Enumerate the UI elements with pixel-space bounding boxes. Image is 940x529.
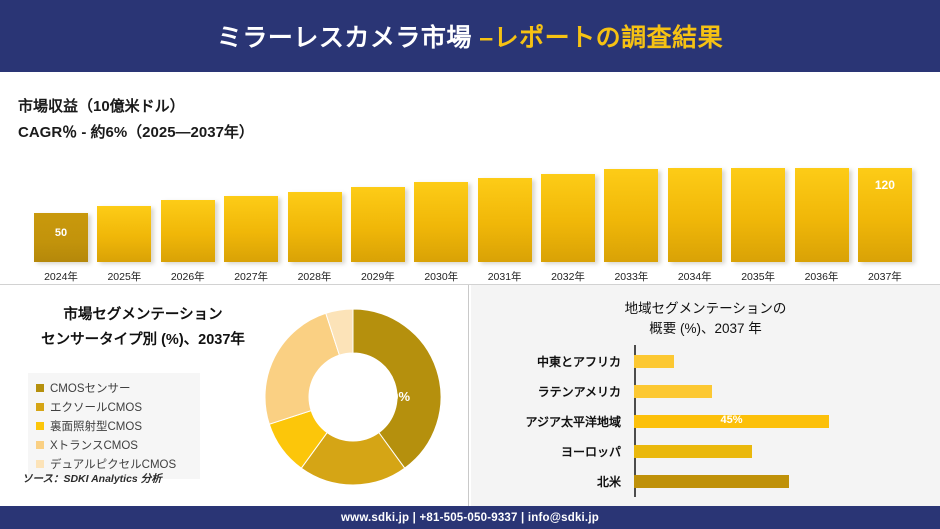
revenue-bar-column: 2025年 (93, 168, 155, 284)
segmentation-title-line-2: センサータイプ別 (%)、2037年 (8, 328, 278, 353)
revenue-bar-column: 2026年 (157, 168, 219, 284)
region-bar-track: 45% (629, 406, 934, 436)
page-title-accent: –レポートの調査結果 (479, 24, 723, 52)
revenue-bar-column: 2029年 (347, 168, 409, 284)
segmentation-legend: CMOSセンサーエクソールCMOS裏面照射型CMOSXトランスCMOSデュアルピ… (28, 373, 200, 479)
revenue-bar-label: 2031年 (488, 269, 522, 284)
revenue-bar (224, 196, 278, 262)
region-bar-label: アジア太平洋地域 (479, 413, 629, 430)
revenue-bar-value: 120 (858, 178, 912, 192)
revenue-bar (351, 187, 405, 262)
legend-item-label: XトランスCMOS (50, 437, 138, 453)
revenue-bar (604, 169, 658, 262)
region-bar-track (629, 466, 934, 496)
infographic-slide: ミラーレスカメラ市場 –レポートの調査結果 市場収益（10億米ドル） CAGR％… (0, 0, 940, 529)
revenue-bar-label: 2035年 (741, 269, 775, 284)
revenue-bar-column: 2034年 (664, 168, 726, 284)
revenue-bar-column: 2036年 (791, 168, 853, 284)
revenue-bar-label: 2025年 (107, 269, 141, 284)
revenue-bar-column: 2028年 (284, 168, 346, 284)
header-band: ミラーレスカメラ市場 –レポートの調査結果 (0, 0, 940, 72)
revenue-bar-column: 2030年 (410, 168, 472, 284)
region-bar (634, 475, 789, 488)
revenue-headline-line-2: CAGR％ - 約6%（2025―2037年） (18, 120, 254, 146)
revenue-bar (795, 168, 849, 262)
donut-slice (265, 313, 339, 424)
legend-color-swatch-icon (36, 460, 44, 468)
revenue-headline-line-1: 市場収益（10億米ドル） (18, 94, 254, 120)
region-bars: 中東とアフリカラテンアメリカアジア太平洋地域45%ヨーロッパ北米 (479, 345, 934, 497)
legend-color-swatch-icon (36, 422, 44, 430)
legend-color-swatch-icon (36, 403, 44, 411)
revenue-bar-label: 2030年 (424, 269, 458, 284)
revenue-bar-label: 2034年 (678, 269, 712, 284)
footer-band: www.sdki.jp | +81-505-050-9337 | info@sd… (0, 506, 940, 529)
legend-item: エクソールCMOS (36, 397, 194, 416)
region-bar-row: アジア太平洋地域45% (479, 406, 934, 436)
region-bar-track (629, 436, 934, 466)
revenue-bar-label: 2037年 (868, 269, 902, 284)
legend-color-swatch-icon (36, 441, 44, 449)
region-bar (634, 355, 674, 368)
donut-slice-label: 40% (384, 389, 410, 404)
revenue-bar-column: 2033年 (600, 168, 662, 284)
legend-item: CMOSセンサー (36, 378, 194, 397)
region-panel: 地域セグメンテーションの 概要 (%)、2037 年 中東とアフリカラテンアメリ… (471, 285, 940, 506)
legend-item-label: エクソールCMOS (50, 399, 142, 415)
revenue-bar (414, 182, 468, 262)
region-bar-label: 中東とアフリカ (479, 353, 629, 370)
region-bar-track (629, 346, 934, 376)
revenue-bar-label: 2033年 (614, 269, 648, 284)
legend-item-label: 裏面照射型CMOS (50, 418, 142, 434)
page-title-primary: ミラーレスカメラ市場 (217, 24, 479, 52)
revenue-bar-column: 2031年 (474, 168, 536, 284)
revenue-bar (478, 178, 532, 262)
revenue-bar-column: 2032年 (537, 168, 599, 284)
revenue-headline: 市場収益（10億米ドル） CAGR％ - 約6%（2025―2037年） (18, 94, 254, 146)
region-bar-label: ヨーロッパ (479, 443, 629, 460)
region-bar-track (629, 376, 934, 406)
revenue-bar: 120 (858, 168, 912, 262)
bottom-section: 市場セグメンテーション センサータイプ別 (%)、2037年 CMOSセンサーエ… (0, 284, 940, 506)
revenue-bar-label: 2024年 (44, 269, 78, 284)
legend-item: XトランスCMOS (36, 435, 194, 454)
legend-item-label: デュアルピクセルCMOS (50, 456, 176, 472)
revenue-bar-value: 50 (34, 227, 88, 239)
revenue-bars: 502024年2025年2026年2027年2028年2029年2030年203… (30, 168, 916, 284)
region-bar-row: ヨーロッパ (479, 436, 934, 466)
revenue-bar (161, 200, 215, 262)
region-bar-label: ラテンアメリカ (479, 383, 629, 400)
revenue-bar-label: 2028年 (298, 269, 332, 284)
region-bar (634, 385, 712, 398)
donut-chart-svg (258, 301, 448, 493)
revenue-bar (541, 174, 595, 262)
region-bar-row: ラテンアメリカ (479, 376, 934, 406)
segmentation-title: 市場セグメンテーション センサータイプ別 (%)、2037年 (8, 303, 278, 353)
source-note: ソース：SDKI Analytics 分析 (22, 471, 162, 486)
region-bar-row: 中東とアフリカ (479, 346, 934, 376)
region-bar-label: 北米 (479, 473, 629, 490)
region-title: 地域セグメンテーションの 概要 (%)、2037 年 (471, 299, 940, 339)
revenue-bar (731, 168, 785, 262)
footer-contact: www.sdki.jp | +81-505-050-9337 | info@sd… (341, 512, 599, 524)
legend-item-label: CMOSセンサー (50, 380, 131, 396)
donut-chart: 40% (258, 301, 448, 493)
page-title: ミラーレスカメラ市場 –レポートの調査結果 (217, 18, 723, 54)
region-bar-value: 45% (634, 414, 829, 426)
region-bar (634, 445, 752, 458)
region-bar: 45% (634, 415, 829, 428)
revenue-chart-panel: 市場収益（10億米ドル） CAGR％ - 約6%（2025―2037年） 502… (0, 72, 940, 284)
revenue-bar (97, 206, 151, 262)
revenue-bar (288, 192, 342, 262)
revenue-bar (668, 168, 722, 262)
revenue-bar-column: 2027年 (220, 168, 282, 284)
revenue-bar: 50 (34, 213, 88, 262)
revenue-bar-label: 2036年 (805, 269, 839, 284)
legend-item: 裏面照射型CMOS (36, 416, 194, 435)
revenue-bar-column: 1202037年 (854, 168, 916, 284)
region-title-line-2: 概要 (%)、2037 年 (471, 319, 940, 339)
revenue-bar-column: 2035年 (727, 168, 789, 284)
region-bar-row: 北米 (479, 466, 934, 496)
region-title-line-1: 地域セグメンテーションの (471, 299, 940, 319)
revenue-bar-label: 2027年 (234, 269, 268, 284)
segmentation-title-line-1: 市場セグメンテーション (8, 303, 278, 328)
revenue-bar-column: 502024年 (30, 168, 92, 284)
segmentation-panel: 市場セグメンテーション センサータイプ別 (%)、2037年 CMOSセンサーエ… (0, 285, 466, 506)
legend-color-swatch-icon (36, 384, 44, 392)
revenue-bar-label: 2026年 (171, 269, 205, 284)
revenue-bar-label: 2029年 (361, 269, 395, 284)
section-divider-vertical (468, 285, 469, 506)
revenue-bar-label: 2032年 (551, 269, 585, 284)
